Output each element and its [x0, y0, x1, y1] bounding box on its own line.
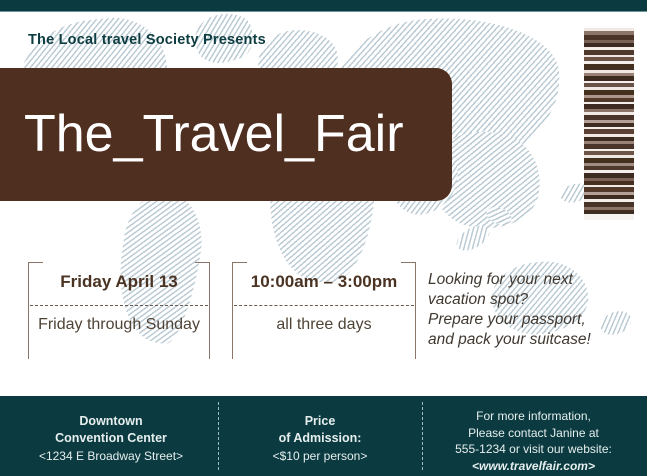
contact-phone: 555-1234 or visit our website:: [426, 441, 641, 458]
tagline-line-2: vacation spot?: [428, 290, 638, 310]
tagline-line-1: Looking for your next: [428, 270, 638, 290]
contact-line-1: For more information,: [426, 408, 641, 425]
date-box: Friday April 13 Friday through Sunday: [28, 262, 210, 358]
barcode: [584, 28, 634, 222]
event-hours-note: all three days: [232, 316, 416, 334]
venue-name-line-2: Convention Center: [8, 430, 214, 447]
barcode-stripe: [584, 214, 634, 220]
footer-price: Price of Admission: <$10 per person>: [222, 396, 418, 476]
tagline-line-3: Prepare your passport,: [428, 310, 638, 330]
venue-address: <1234 E Broadway Street>: [8, 448, 214, 465]
date-box-divider: [30, 305, 208, 306]
event-date: Friday April 13: [28, 272, 210, 292]
title-plaque: The_Travel_Fair: [0, 68, 452, 201]
footer-divider-1: [218, 402, 219, 470]
price-label-line-1: Price: [222, 413, 418, 430]
footer-band: Downtown Convention Center <1234 E Broad…: [0, 396, 647, 476]
time-box: 10:00am – 3:00pm all three days: [232, 262, 416, 358]
footer-contact: For more information, Please contact Jan…: [426, 396, 641, 476]
tagline: Looking for your next vacation spot? Pre…: [428, 270, 638, 351]
contact-line-2: Please contact Janine at: [426, 425, 641, 442]
event-hours: 10:00am – 3:00pm: [232, 272, 416, 292]
price-label-line-2: of Admission:: [222, 430, 418, 447]
price-amount: <$10 per person>: [222, 448, 418, 465]
event-title: The_Travel_Fair: [24, 107, 404, 162]
travel-fair-ticket: The Local travel Society Presents The_Tr…: [0, 0, 647, 476]
contact-website[interactable]: <www.travelfair.com>: [426, 458, 641, 475]
footer-venue: Downtown Convention Center <1234 E Broad…: [8, 396, 214, 476]
footer-divider-2: [422, 402, 423, 470]
event-date-range: Friday through Sunday: [28, 316, 210, 334]
venue-name-line-1: Downtown: [8, 413, 214, 430]
top-accent-bar: [0, 0, 647, 11]
tagline-line-4: and pack your suitcase!: [428, 330, 638, 350]
time-box-divider: [234, 305, 414, 306]
presenter-line: The Local travel Society Presents: [28, 32, 266, 48]
